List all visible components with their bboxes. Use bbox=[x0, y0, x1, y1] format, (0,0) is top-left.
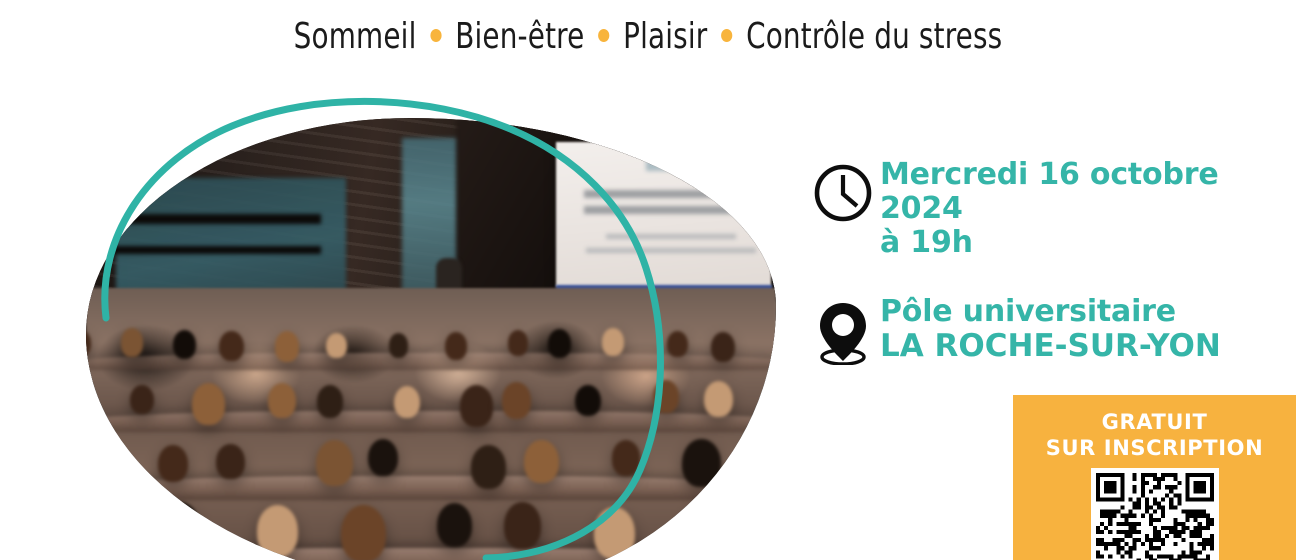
photo-seat-row bbox=[86, 476, 776, 501]
photo-audience-head bbox=[192, 383, 226, 425]
photo-slide-title-line2 bbox=[584, 206, 734, 214]
photo-audience-head bbox=[130, 385, 154, 415]
photo-audience-head bbox=[368, 439, 398, 477]
photo-audience-head bbox=[86, 506, 103, 560]
event-time: à 19h bbox=[880, 226, 1276, 260]
event-date: Mercredi 16 octobre 2024 bbox=[880, 158, 1276, 226]
photo-audience-head bbox=[326, 333, 346, 358]
venue-city: LA ROCHE-SUR-YON bbox=[880, 329, 1221, 364]
photo-audience bbox=[86, 288, 776, 560]
orange-dot-icon bbox=[598, 29, 609, 42]
photo-audience-head bbox=[445, 332, 467, 360]
photo-audience-head bbox=[389, 333, 409, 358]
photo-audience-head bbox=[275, 331, 300, 362]
photo-slide-body-line1 bbox=[606, 234, 736, 239]
photo-audience-head bbox=[460, 385, 493, 427]
tagline: SommeilBien-êtrePlaisirContrôle du stres… bbox=[91, 16, 1206, 57]
photo-audience-head bbox=[508, 330, 528, 355]
photo-audience-head bbox=[316, 440, 353, 486]
photo-audience-head bbox=[682, 439, 720, 487]
photo-audience-head bbox=[219, 331, 243, 362]
clock-icon bbox=[806, 158, 880, 224]
event-location-text: Pôle universitaire LA ROCHE-SUR-YON bbox=[880, 295, 1221, 365]
photo-audience-head bbox=[121, 328, 144, 356]
badge-text: GRATUIT SUR INSCRIPTION bbox=[1013, 395, 1296, 461]
conference-photo bbox=[86, 118, 776, 560]
photo-audience-head bbox=[548, 329, 572, 358]
orange-dot-icon bbox=[721, 29, 732, 42]
photo-audience-head bbox=[524, 440, 558, 483]
photo-audience-head bbox=[437, 503, 472, 547]
photo-audience-head bbox=[268, 383, 296, 418]
photo-audience-head bbox=[502, 382, 531, 418]
event-location-row: Pôle universitaire LA ROCHE-SUR-YON bbox=[806, 295, 1276, 365]
photo-audience-head bbox=[173, 330, 197, 360]
photo-audience-head bbox=[683, 503, 725, 556]
photo-slide-body-line2 bbox=[586, 248, 756, 253]
photo-audience-head bbox=[594, 507, 635, 558]
photo-blob-mask bbox=[86, 118, 776, 560]
photo-slat-a bbox=[106, 214, 321, 224]
tagline-word-controle-du-stress: Contrôle du stress bbox=[746, 16, 1002, 57]
photo-audience-head bbox=[257, 505, 298, 557]
photo-audience-head bbox=[504, 502, 541, 548]
event-poster: SommeilBien-êtrePlaisirContrôle du stres… bbox=[0, 0, 1296, 560]
photo-audience-head bbox=[471, 445, 506, 489]
photo-audience-head bbox=[704, 381, 733, 418]
map-pin-icon bbox=[806, 295, 880, 365]
photo-slide-title-line1 bbox=[584, 190, 764, 198]
badge-line-gratuit: GRATUIT bbox=[1013, 409, 1296, 435]
photo-audience-head bbox=[86, 443, 117, 485]
tagline-word-plaisir: Plaisir bbox=[623, 16, 707, 57]
photo-audience-head bbox=[612, 440, 641, 476]
photo-slide-logo bbox=[646, 151, 724, 171]
badge-line-inscription: SUR INSCRIPTION bbox=[1013, 435, 1296, 461]
event-datetime-text: Mercredi 16 octobre 2024 à 19h bbox=[880, 158, 1276, 261]
photo-seat-row bbox=[86, 411, 776, 431]
qr-code-icon[interactable] bbox=[1091, 468, 1219, 560]
orange-dot-icon bbox=[430, 29, 441, 42]
photo-audience-head bbox=[341, 505, 386, 560]
event-datetime-row: Mercredi 16 octobre 2024 à 19h bbox=[806, 158, 1276, 261]
photo-audience-head bbox=[216, 444, 244, 479]
photo-audience-head bbox=[317, 385, 343, 417]
photo-audience-head bbox=[86, 329, 91, 358]
photo-audience-head bbox=[711, 332, 735, 362]
photo-audience-head bbox=[394, 386, 420, 419]
photo-audience-head bbox=[158, 445, 188, 482]
event-details: Mercredi 16 octobre 2024 à 19h Pôle univ… bbox=[806, 158, 1276, 399]
photo-audience-head bbox=[575, 385, 600, 417]
photo-audience-head bbox=[158, 502, 200, 554]
tagline-word-sommeil: Sommeil bbox=[294, 16, 417, 57]
tagline-word-bien-etre: Bien-être bbox=[455, 16, 584, 57]
photo-audience-head bbox=[653, 380, 679, 413]
venue-name: Pôle universitaire bbox=[880, 295, 1221, 329]
registration-badge[interactable]: GRATUIT SUR INSCRIPTION bbox=[1013, 395, 1296, 560]
photo-slat-b bbox=[106, 246, 321, 254]
photo-audience-head bbox=[602, 328, 624, 355]
photo-audience-head bbox=[667, 331, 688, 357]
